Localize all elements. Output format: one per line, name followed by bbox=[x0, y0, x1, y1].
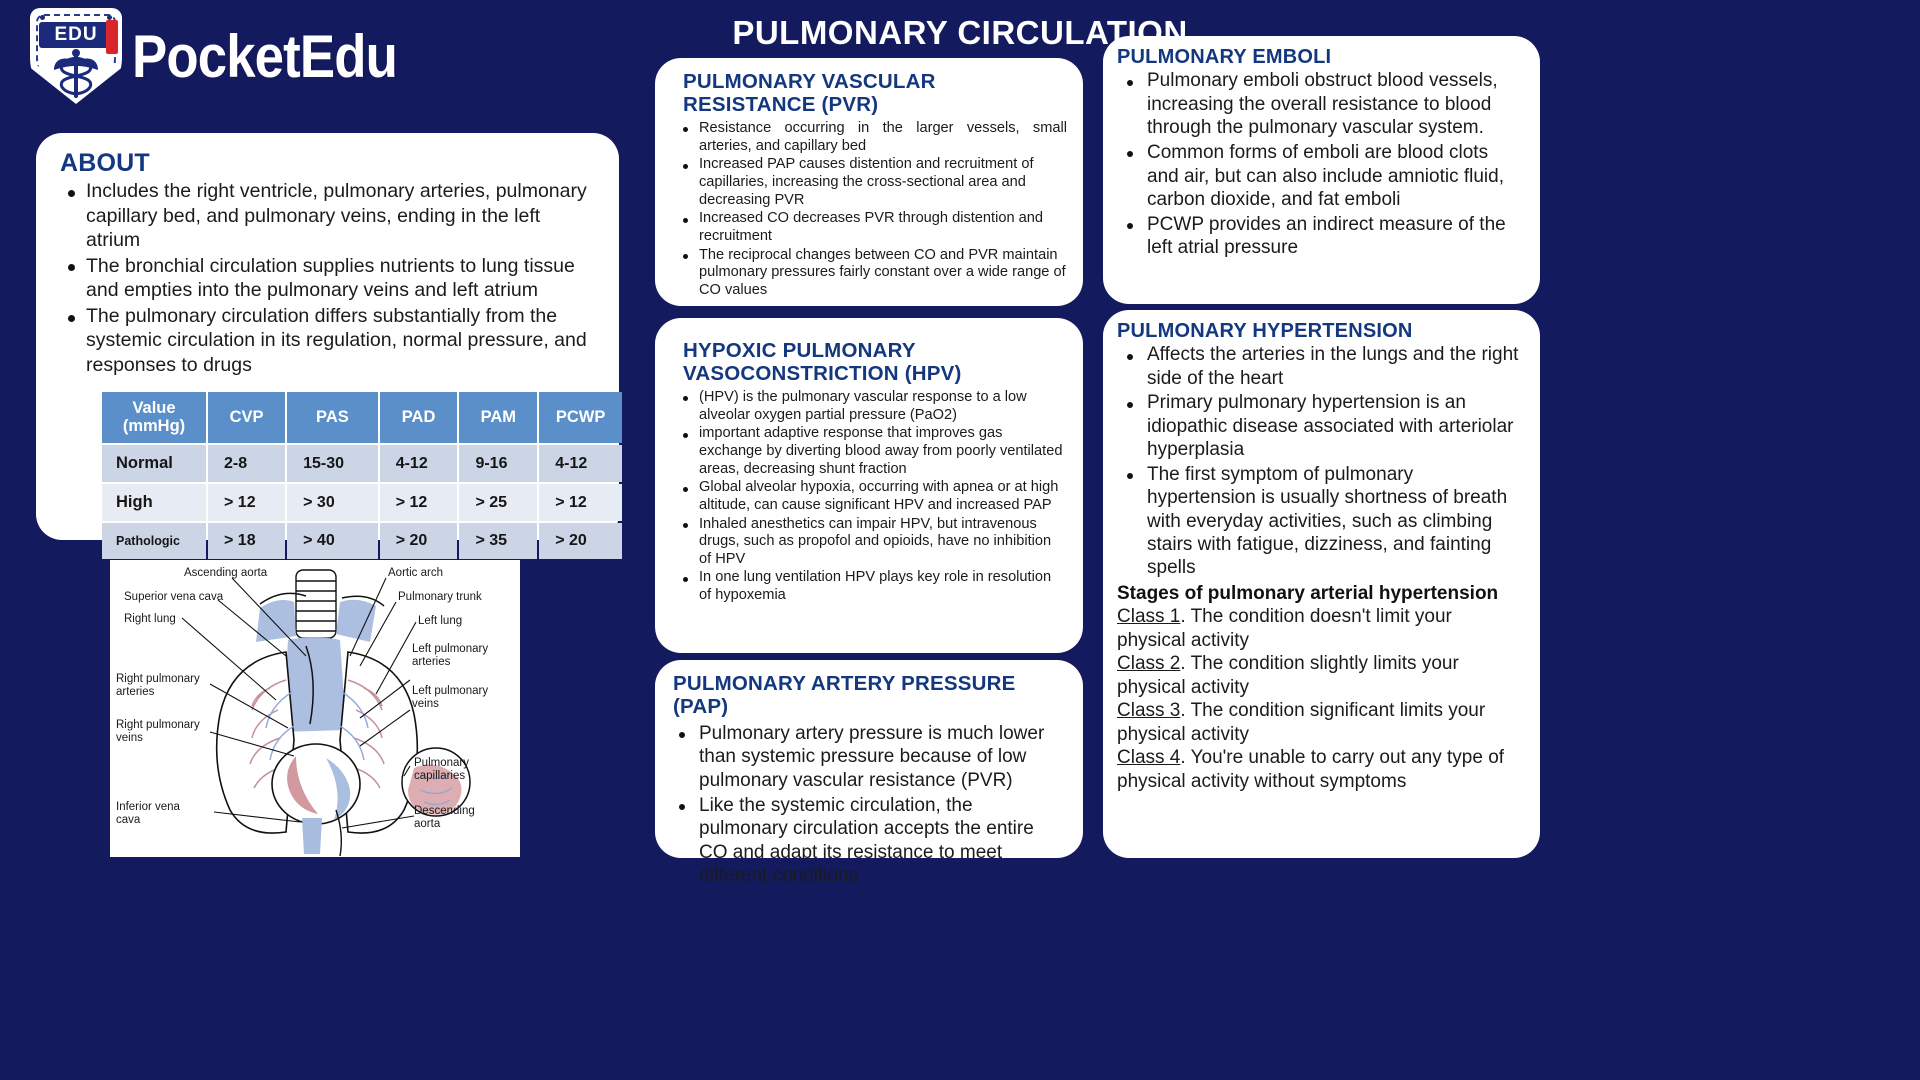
cell: 2-8 bbox=[208, 445, 285, 482]
anatomy-label-right-pulmonary-arteries: Right pulmonaryarteries bbox=[116, 673, 200, 698]
edu-label: EDU bbox=[39, 22, 113, 48]
list-item: The first symptom of pulmonary hypertens… bbox=[1117, 463, 1524, 580]
list-item: (HPV) is the pulmonary vascular response… bbox=[671, 389, 1067, 424]
list-item: Increased CO decreases PVR through diste… bbox=[671, 210, 1067, 245]
list-item: Pulmonary artery pressure is much lower … bbox=[673, 722, 1065, 793]
col-header-pas: PAS bbox=[287, 392, 378, 444]
cell: > 30 bbox=[287, 484, 378, 521]
list-item: The bronchial circulation supplies nutri… bbox=[60, 254, 597, 303]
stage-class-2-label: Class 2 bbox=[1117, 653, 1180, 674]
list-item: The pulmonary circulation differs substa… bbox=[60, 304, 597, 378]
list-item: Pulmonary emboli obstruct blood vessels,… bbox=[1117, 69, 1524, 140]
poster-canvas: EDU PocketEdu PULMONARY CIRCULATION ABOU… bbox=[0, 0, 1920, 1080]
pulmonary-circulation-diagram: Ascending aorta Aortic arch Superior ven… bbox=[110, 560, 520, 857]
heart-lungs-illustration: Ascending aorta Aortic arch Superior ven… bbox=[110, 560, 520, 857]
pvr-heading: PULMONARY VASCULAR RESISTANCE (PVR) bbox=[671, 71, 1067, 117]
about-heading: ABOUT bbox=[60, 149, 597, 177]
anatomy-label-right-pulmonary-veins: Right pulmonaryveins bbox=[116, 719, 200, 744]
cell: > 20 bbox=[539, 523, 622, 559]
list-item: In one lung ventilation HPV plays key ro… bbox=[671, 569, 1067, 604]
pap-card: PULMONARY ARTERY PRESSURE (PAP) Pulmonar… bbox=[655, 660, 1083, 858]
list-item: Like the systemic circulation, the pulmo… bbox=[673, 794, 1065, 888]
anatomy-label-descending-aorta: Descendingaorta bbox=[414, 805, 475, 830]
stage-class-3-label: Class 3 bbox=[1117, 700, 1180, 721]
anatomy-label-left-lung: Left lung bbox=[418, 615, 462, 627]
anatomy-label-left-pulmonary-arteries: Left pulmonaryarteries bbox=[412, 643, 488, 668]
cell: 15-30 bbox=[287, 445, 378, 482]
anatomy-label-left-pulmonary-veins: Left pulmonaryveins bbox=[412, 685, 488, 710]
cell: > 40 bbox=[287, 523, 378, 559]
pvr-card: PULMONARY VASCULAR RESISTANCE (PVR) Resi… bbox=[655, 58, 1083, 306]
cell: > 35 bbox=[459, 523, 537, 559]
row-label-pathologic: Pathologic bbox=[102, 523, 206, 559]
col-header-cvp: CVP bbox=[208, 392, 285, 444]
hpv-bullet-list: (HPV) is the pulmonary vascular response… bbox=[671, 389, 1067, 605]
anatomy-label-right-lung: Right lung bbox=[124, 613, 176, 625]
brand-name: PocketEdu bbox=[132, 22, 397, 91]
list-item: Includes the right ventricle, pulmonary … bbox=[60, 179, 597, 253]
cell: 4-12 bbox=[380, 445, 458, 482]
list-item: Global alveolar hypoxia, occurring with … bbox=[671, 479, 1067, 514]
stage-class-4-label: Class 4 bbox=[1117, 747, 1180, 768]
brand-logo: EDU PocketEdu bbox=[30, 8, 433, 104]
cell: > 20 bbox=[380, 523, 458, 559]
list-item: The reciprocal changes between CO and PV… bbox=[671, 247, 1067, 300]
pap-heading: PULMONARY ARTERY PRESSURE (PAP) bbox=[673, 673, 1065, 719]
hpv-card: HYPOXIC PULMONARY VASOCONSTRICTION (HPV)… bbox=[655, 318, 1083, 653]
cell: > 12 bbox=[380, 484, 458, 521]
cell: > 12 bbox=[208, 484, 285, 521]
table-header-row: Value (mmHg) CVP PAS PAD PAM PCWP bbox=[102, 392, 622, 444]
row-label-normal: Normal bbox=[102, 445, 206, 482]
caduceus-icon bbox=[48, 48, 104, 100]
anatomy-label-pulmonary-capillaries: Pulmonarycapillaries bbox=[414, 757, 469, 782]
anatomy-label-pulmonary-trunk: Pulmonary trunk bbox=[398, 591, 482, 603]
pressure-values-table: Value (mmHg) CVP PAS PAD PAM PCWP Normal… bbox=[100, 390, 624, 562]
row-label-high: High bbox=[102, 484, 206, 521]
list-item: PCWP provides an indirect measure of the… bbox=[1117, 213, 1524, 260]
anatomy-label-superior-vena-cava: Superior vena cava bbox=[124, 591, 224, 603]
list-item: Resistance occurring in the larger vesse… bbox=[671, 120, 1067, 155]
col-header-value: Value (mmHg) bbox=[102, 392, 206, 444]
about-bullet-list: Includes the right ventricle, pulmonary … bbox=[60, 179, 597, 378]
pocket-badge-icon: EDU bbox=[30, 8, 122, 104]
hypertension-bullet-list: Affects the arteries in the lungs and th… bbox=[1117, 343, 1524, 580]
col-header-pcwp: PCWP bbox=[539, 392, 622, 444]
table-row: Pathologic > 18 > 40 > 20 > 35 > 20 bbox=[102, 523, 622, 559]
anatomy-label-ascending-aorta: Ascending aorta bbox=[184, 567, 268, 579]
emboli-bullet-list: Pulmonary emboli obstruct blood vessels,… bbox=[1117, 69, 1524, 259]
anatomy-label-inferior-vena-cava: Inferior venacava bbox=[116, 801, 181, 826]
emboli-heading: PULMONARY EMBOLI bbox=[1117, 46, 1524, 68]
list-item: Increased PAP causes distention and recr… bbox=[671, 156, 1067, 209]
stage-class-3: Class 3. The condition significant limit… bbox=[1117, 699, 1524, 746]
list-item: Affects the arteries in the lungs and th… bbox=[1117, 343, 1524, 390]
cell: > 18 bbox=[208, 523, 285, 559]
table-row: Normal 2-8 15-30 4-12 9-16 4-12 bbox=[102, 445, 622, 482]
list-item: Inhaled anesthetics can impair HPV, but … bbox=[671, 516, 1067, 569]
cell: 9-16 bbox=[459, 445, 537, 482]
hypertension-heading: PULMONARY HYPERTENSION bbox=[1117, 320, 1524, 342]
pvr-bullet-list: Resistance occurring in the larger vesse… bbox=[671, 120, 1067, 300]
stage-class-4: Class 4. You're unable to carry out any … bbox=[1117, 746, 1524, 793]
anatomy-label-aortic-arch: Aortic arch bbox=[388, 567, 443, 579]
pulmonary-hypertension-card: PULMONARY HYPERTENSION Affects the arter… bbox=[1103, 310, 1540, 858]
stages-subheading: Stages of pulmonary arterial hypertensio… bbox=[1117, 582, 1524, 606]
list-item: Common forms of emboli are blood clots a… bbox=[1117, 141, 1524, 212]
cell: > 12 bbox=[539, 484, 622, 521]
pulmonary-emboli-card: PULMONARY EMBOLI Pulmonary emboli obstru… bbox=[1103, 36, 1540, 304]
red-bookmark-icon bbox=[106, 20, 118, 54]
col-header-pad: PAD bbox=[380, 392, 458, 444]
cell: > 25 bbox=[459, 484, 537, 521]
table-row: High > 12 > 30 > 12 > 25 > 12 bbox=[102, 484, 622, 521]
cell: 4-12 bbox=[539, 445, 622, 482]
pocket-rivet-left-icon bbox=[40, 15, 45, 20]
list-item: important adaptive response that improve… bbox=[671, 425, 1067, 478]
stage-class-1: Class 1. The condition doesn't limit you… bbox=[1117, 605, 1524, 652]
col-header-pam: PAM bbox=[459, 392, 537, 444]
about-card: ABOUT Includes the right ventricle, pulm… bbox=[36, 133, 619, 540]
stage-class-1-label: Class 1 bbox=[1117, 606, 1180, 627]
pap-bullet-list: Pulmonary artery pressure is much lower … bbox=[673, 722, 1065, 888]
list-item: Primary pulmonary hypertension is an idi… bbox=[1117, 391, 1524, 461]
hpv-heading: HYPOXIC PULMONARY VASOCONSTRICTION (HPV) bbox=[671, 340, 1067, 386]
stage-class-2: Class 2. The condition slightly limits y… bbox=[1117, 652, 1524, 699]
